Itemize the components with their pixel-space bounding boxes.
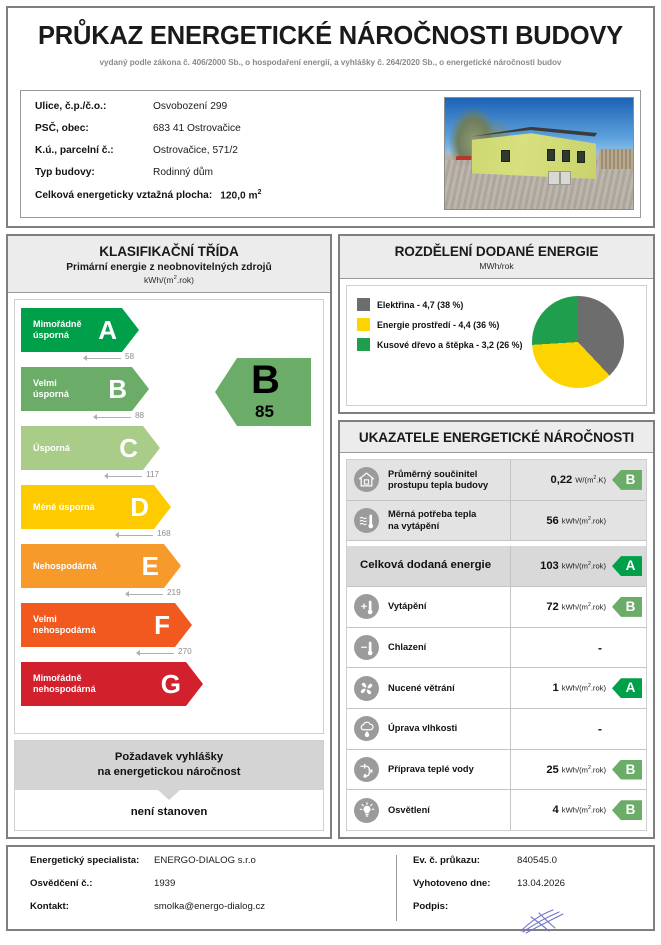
band-letter: F <box>154 612 170 638</box>
cooling-icon <box>354 635 379 660</box>
indicator-value: - <box>598 722 602 736</box>
threshold-line <box>119 535 153 536</box>
indicator-grade-badge: B <box>612 470 642 490</box>
footer-issue-date: Vyhotoveno dne: 13.04.2026 <box>413 878 643 889</box>
threshold-arrow-icon <box>83 355 87 361</box>
indicator-unit: kWh/(m2.rok) <box>562 805 606 815</box>
threshold-arrow-icon <box>93 414 97 420</box>
indicator-unit: kWh/(m2.rok) <box>562 516 606 526</box>
classification-header: KLASIFIKAČNÍ TŘÍDA Primární energie z ne… <box>8 236 330 293</box>
indicator-value: 1 <box>553 682 559 694</box>
footer-certificate-number-label: Osvědčení č.: <box>30 878 154 889</box>
band-e: NehospodárnáE <box>21 544 181 588</box>
indicator-value-cell: - <box>511 709 646 749</box>
indicator-row: Příprava teplé vody25kWh/(m2.rok)B <box>347 750 646 791</box>
indicator-unit: kWh/(m2.rok) <box>562 765 606 775</box>
indicator-value: 103 <box>540 560 559 572</box>
indicator-name: Chlazení <box>388 642 426 653</box>
band-threshold-e: 219 <box>21 588 217 601</box>
threshold-value: 168 <box>157 529 171 538</box>
band-letter: C <box>119 435 138 461</box>
field-street-label: Ulice, č.p./č.o.: <box>35 101 153 112</box>
requirement-notch-icon <box>158 790 180 800</box>
footer-certificate-number: Osvědčení č.: 1939 <box>30 878 396 889</box>
pie-legend-swatch <box>357 318 370 331</box>
indicator-value-cell: 72kWh/(m2.rok)B <box>511 587 646 627</box>
indicator-row: Nucené větrání1kWh/(m2.rok)A <box>347 668 646 709</box>
indicator-row: Měrná potřeba tepla na vytápění56kWh/(m2… <box>347 501 646 542</box>
indicator-name: Nucené větrání <box>388 683 455 694</box>
field-cadastre-label: K.ú., parcelní č.: <box>35 145 153 156</box>
band-label: Mimořádně úsporná <box>33 319 82 340</box>
threshold-value: 117 <box>146 470 159 479</box>
footer-signature-label: Podpis: <box>413 901 517 912</box>
field-building-type: Typ budovy: Rodinný dům <box>35 167 465 178</box>
threshold-line <box>129 594 163 595</box>
field-cadastre-value: Ostrovačice, 571/2 <box>153 145 238 156</box>
indicator-value-cell: 1kWh/(m2.rok)A <box>511 668 646 708</box>
classification-unit: kWh/(m2.rok) <box>12 275 326 285</box>
footer-specialist: Energetický specialista: ENERGO-DIALOG s… <box>30 855 396 866</box>
result-badge-value: 85 <box>255 402 274 422</box>
field-street-value: Osvobození 299 <box>153 101 227 112</box>
pie-legend-item: Elektřina - 4,7 (38 %) <box>357 298 523 311</box>
indicator-row: Vytápění72kWh/(m2.rok)B <box>347 587 646 628</box>
indicator-unit: kWh/(m2.rok) <box>562 602 606 612</box>
hot-water-icon <box>354 757 379 782</box>
photo-bin-2 <box>560 171 571 185</box>
field-street: Ulice, č.p./č.o.: Osvobození 299 <box>35 101 465 112</box>
photo-window-2 <box>547 149 555 161</box>
band-f: Velmi nehospodárnáF <box>21 603 192 647</box>
band-letter: A <box>98 317 117 343</box>
fan-icon <box>354 676 379 701</box>
indicator-name: Úprava vlhkosti <box>388 723 457 734</box>
footer-issue-date-label: Vyhotoveno dne: <box>413 878 517 889</box>
pie-legend-swatch <box>357 298 370 311</box>
field-total-area-value: 120,0 m2 <box>220 189 261 201</box>
indicator-label-cell: Nucené větrání <box>347 668 511 708</box>
indicators-header: UKAZATELE ENERGETICKÉ NÁROČNOSTI <box>340 422 653 453</box>
band-label: Nehospodárná <box>33 561 97 572</box>
signature-icon <box>519 907 575 935</box>
footer-registration-number-value: 840545.0 <box>517 855 557 866</box>
right-column: ROZDĚLENÍ DODANÉ ENERGIE MWh/rok Elektři… <box>338 234 655 839</box>
field-postcode-city: PSČ, obec: 683 41 Ostrovačice <box>35 123 465 134</box>
band-threshold-b: 88 <box>21 411 217 424</box>
pie-legend-label: Energie prostředí - 4,4 (36 %) <box>377 320 499 330</box>
indicator-row: Osvětlení4kWh/(m2.rok)B <box>347 790 646 830</box>
indicator-row: Průměrný součinitel prostupu tepla budov… <box>347 460 646 501</box>
main-columns: KLASIFIKAČNÍ TŘÍDA Primární energie z ne… <box>6 234 655 839</box>
requirement-heading: Požadavek vyhlášky na energetickou nároč… <box>15 741 323 790</box>
energy-certificate-page: PRŮKAZ ENERGETICKÉ NÁROČNOSTI BUDOVY vyd… <box>0 0 661 945</box>
indicator-label-cell: Vytápění <box>347 587 511 627</box>
band-threshold-f: 270 <box>21 647 217 660</box>
indicator-value-cell: 103kWh/(m2.rok)A <box>511 546 646 586</box>
indicator-grade-badge: B <box>612 800 642 820</box>
band-b: Velmi úspornáB <box>21 367 149 411</box>
pie-legend-item: Energie prostředí - 4,4 (36 %) <box>357 318 523 331</box>
band-letter: B <box>108 376 127 402</box>
indicator-value: 72 <box>546 601 558 613</box>
footer-certificate-number-value: 1939 <box>154 878 175 889</box>
result-badge-letter: B <box>251 360 280 400</box>
photo-bin-1 <box>548 171 559 185</box>
indicator-grade-badge: B <box>612 760 642 780</box>
indicator-unit: kWh/(m2.rok) <box>562 683 606 693</box>
indicator-row: Celková dodaná energie103kWh/(m2.rok)A <box>347 546 646 587</box>
indicator-name: Celková dodaná energie <box>354 559 491 573</box>
band-threshold-d: 168 <box>21 529 217 542</box>
field-building-type-value: Rodinný dům <box>153 167 213 178</box>
footer-issue-date-value: 13.04.2026 <box>517 878 565 889</box>
humidity-icon <box>354 716 379 741</box>
band-a: Mimořádně úspornáA <box>21 308 139 352</box>
heating-icon <box>354 594 379 619</box>
page-title: PRŮKAZ ENERGETICKÉ NÁROČNOSTI BUDOVY <box>18 22 643 51</box>
footer-panel: Energetický specialista: ENERGO-DIALOG s… <box>6 845 655 931</box>
energy-split-title: ROZDĚLENÍ DODANÉ ENERGIE <box>344 244 649 259</box>
threshold-arrow-icon <box>104 473 108 479</box>
threshold-line <box>87 358 121 359</box>
building-photo-illustration <box>445 98 633 209</box>
band-threshold-a: 58 <box>21 352 217 365</box>
indicator-label-cell: Osvětlení <box>347 790 511 830</box>
indicator-grade-badge: B <box>612 597 642 617</box>
footer-specialist-label: Energetický specialista: <box>30 855 154 866</box>
indicator-grade-badge: A <box>612 556 642 576</box>
band-label: Méně úsporná <box>33 502 95 513</box>
footer-registration-number-label: Ev. č. průkazu: <box>413 855 517 866</box>
classification-panel: KLASIFIKAČNÍ TŘÍDA Primární energie z ne… <box>6 234 332 839</box>
band-d: Méně úspornáD <box>21 485 171 529</box>
classification-scale: Mimořádně úspornáA58Velmi úspornáB88Úspo… <box>14 299 324 734</box>
field-building-type-label: Typ budovy: <box>35 167 153 178</box>
footer-contact-label: Kontakt: <box>30 901 154 912</box>
footer-registration-number: Ev. č. průkazu: 840545.0 <box>413 855 643 866</box>
band-row-b: Velmi úspornáB88 <box>21 367 217 424</box>
footer-contact-value: smolka@energo-dialog.cz <box>154 901 265 912</box>
pie-legend: Elektřina - 4,7 (38 %)Energie prostředí … <box>357 298 523 358</box>
band-row-a: Mimořádně úspornáA58 <box>21 308 217 365</box>
indicator-label-cell: Úprava vlhkosti <box>347 709 511 749</box>
band-label: Velmi nehospodárná <box>33 614 96 635</box>
energy-split-panel: ROZDĚLENÍ DODANÉ ENERGIE MWh/rok Elektři… <box>338 234 655 414</box>
indicator-row: Chlazení- <box>347 628 646 669</box>
threshold-line <box>140 653 174 654</box>
threshold-line <box>108 476 142 477</box>
threshold-value: 270 <box>178 647 192 656</box>
band-row-d: Méně úspornáD168 <box>21 485 217 542</box>
heat-demand-icon <box>354 508 379 533</box>
footer-contact: Kontakt: smolka@energo-dialog.cz <box>30 901 396 912</box>
indicators-title: UKAZATELE ENERGETICKÉ NÁROČNOSTI <box>344 430 649 445</box>
band-g: Mimořádně nehospodárnáG <box>21 662 203 706</box>
indicator-label-cell: Celková dodaná energie <box>347 546 511 586</box>
indicator-value-cell: 25kWh/(m2.rok)B <box>511 750 646 790</box>
band-stack: Mimořádně úspornáA58Velmi úspornáB88Úspo… <box>21 308 217 706</box>
building-fields: Ulice, č.p./č.o.: Osvobození 299 PSČ, ob… <box>35 101 465 212</box>
indicator-label-cell: Příprava teplé vody <box>347 750 511 790</box>
indicator-value: - <box>598 641 602 655</box>
threshold-arrow-icon <box>115 532 119 538</box>
building-identification-box: Ulice, č.p./č.o.: Osvobození 299 PSČ, ob… <box>20 90 641 218</box>
footer-specialist-column: Energetický specialista: ENERGO-DIALOG s… <box>18 855 397 921</box>
band-row-f: Velmi nehospodárnáF270 <box>21 603 217 660</box>
band-row-g: Mimořádně nehospodárnáG <box>21 662 217 706</box>
indicator-grade-badge: A <box>612 678 642 698</box>
indicator-label-cell: Měrná potřeba tepla na vytápění <box>347 501 511 541</box>
field-total-area: Celková energeticky vztažná plocha: 120,… <box>35 189 465 201</box>
field-postcode-city-label: PSČ, obec: <box>35 123 153 134</box>
indicator-value: 4 <box>553 804 559 816</box>
classification-column: KLASIFIKAČNÍ TŘÍDA Primární energie z ne… <box>6 234 332 839</box>
field-postcode-city-value: 683 41 Ostrovačice <box>153 123 241 134</box>
pie-legend-label: Elektřina - 4,7 (38 %) <box>377 300 463 310</box>
photo-window-3 <box>562 150 570 162</box>
indicator-name: Vytápění <box>388 601 426 612</box>
page-subtitle: vydaný podle zákona č. 406/2000 Sb., o h… <box>18 58 643 67</box>
photo-window-1 <box>501 150 509 162</box>
energy-split-header: ROZDĚLENÍ DODANÉ ENERGIE MWh/rok <box>340 236 653 279</box>
band-threshold-c: 117 <box>21 470 217 483</box>
band-c: ÚspornáC <box>21 426 160 470</box>
band-letter: D <box>130 494 149 520</box>
indicator-value: 0,22 <box>550 474 572 486</box>
threshold-arrow-icon <box>125 591 129 597</box>
energy-split-body: Elektřina - 4,7 (38 %)Energie prostředí … <box>346 285 647 406</box>
footer-registration-column: Ev. č. průkazu: 840545.0 Vyhotoveno dne:… <box>397 855 643 921</box>
indicator-value-cell: - <box>511 628 646 668</box>
photo-fence <box>599 149 633 169</box>
indicator-value: 56 <box>546 515 558 527</box>
indicators-table: Průměrný součinitel prostupu tepla budov… <box>346 459 647 831</box>
indicator-name: Měrná potřeba tepla na vytápění <box>388 509 476 532</box>
threshold-value: 58 <box>125 352 134 361</box>
indicator-value: 25 <box>546 764 558 776</box>
indicator-name: Průměrný součinitel prostupu tepla budov… <box>388 469 488 492</box>
band-letter: E <box>142 553 159 579</box>
threshold-arrow-icon <box>136 650 140 656</box>
threshold-value: 88 <box>135 411 144 420</box>
band-label: Úsporná <box>33 443 70 454</box>
header-panel: PRŮKAZ ENERGETICKÉ NÁROČNOSTI BUDOVY vyd… <box>6 6 655 228</box>
indicator-unit: W/(m2.K) <box>575 475 606 485</box>
indicators-panel: UKAZATELE ENERGETICKÉ NÁROČNOSTI Průměrn… <box>338 420 655 839</box>
footer-specialist-value: ENERGO-DIALOG s.r.o <box>154 855 256 866</box>
building-photo <box>444 97 634 210</box>
indicator-value-cell: 4kWh/(m2.rok)B <box>511 790 646 830</box>
pie-legend-item: Kusové dřevo a štěpka - 3,2 (26 %) <box>357 338 523 351</box>
photo-window-4 <box>577 151 585 163</box>
band-label: Velmi úsporná <box>33 378 69 399</box>
lightbulb-icon <box>354 798 379 823</box>
indicator-value-cell: 0,22W/(m2.K)B <box>511 460 646 500</box>
indicator-unit: kWh/(m2.rok) <box>562 561 606 571</box>
classification-title: KLASIFIKAČNÍ TŘÍDA <box>12 244 326 259</box>
band-row-e: NehospodárnáE219 <box>21 544 217 601</box>
pie-legend-label: Kusové dřevo a štěpka - 3,2 (26 %) <box>377 340 523 350</box>
field-cadastre: K.ú., parcelní č.: Ostrovačice, 571/2 <box>35 145 465 156</box>
field-total-area-label: Celková energeticky vztažná plocha: <box>35 190 212 201</box>
band-row-c: ÚspornáC117 <box>21 426 217 483</box>
band-letter: G <box>161 671 181 697</box>
threshold-line <box>97 417 131 418</box>
energy-split-unit: MWh/rok <box>344 261 649 271</box>
requirement-heading-text: Požadavek vyhlášky na energetickou nároč… <box>98 751 241 778</box>
classification-subtitle: Primární energie z neobnovitelných zdroj… <box>12 262 326 273</box>
indicator-name: Osvětlení <box>388 805 430 816</box>
pie-chart <box>532 296 624 388</box>
indicator-name: Příprava teplé vody <box>388 764 474 775</box>
indicator-row: Úprava vlhkosti- <box>347 709 646 750</box>
indicator-label-cell: Chlazení <box>347 628 511 668</box>
pie-legend-swatch <box>357 338 370 351</box>
house-icon <box>354 467 379 492</box>
band-label: Mimořádně nehospodárná <box>33 673 96 694</box>
indicator-label-cell: Průměrný součinitel prostupu tepla budov… <box>347 460 511 500</box>
indicator-value-cell: 56kWh/(m2.rok) <box>511 501 646 541</box>
requirement-box: Požadavek vyhlášky na energetickou nároč… <box>14 740 324 831</box>
threshold-value: 219 <box>167 588 181 597</box>
result-badge: B 85 <box>215 358 311 426</box>
